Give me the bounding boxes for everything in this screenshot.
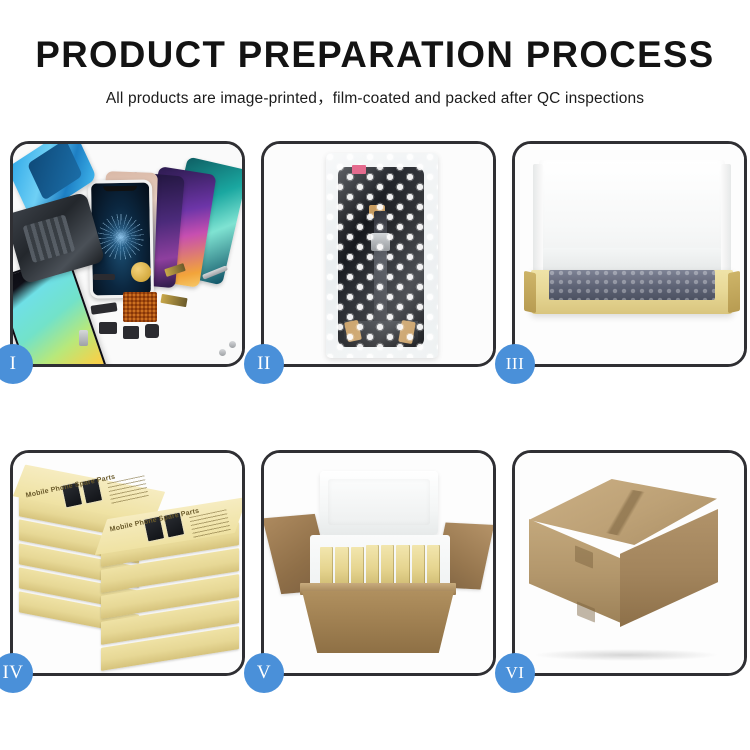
step-badge-4: IV [0, 653, 33, 693]
step-image-1 [13, 144, 242, 364]
part-chip-grid [123, 292, 157, 322]
step-image-3 [515, 144, 744, 364]
retail-boxes-row [320, 545, 440, 587]
page-title: PRODUCT PREPARATION PROCESS [4, 0, 747, 75]
part-battery-connector [93, 274, 115, 280]
retail-box [351, 547, 364, 587]
part-sim-tray [79, 330, 88, 346]
box-stack: Mobile Phone Spare Parts Mobile Phone Sp… [17, 471, 242, 666]
part-speaker [123, 326, 139, 339]
step-image-6 [515, 453, 744, 673]
carton-shadow [533, 649, 719, 661]
step-panel-6: VI [512, 450, 747, 676]
step-badge-6: VI [495, 653, 535, 693]
retail-box [412, 545, 425, 587]
step-badge-2: II [244, 344, 284, 384]
step-image-2 [264, 144, 493, 364]
part-camera-module [99, 322, 117, 334]
foam-lid-open [320, 471, 438, 535]
retail-box [335, 547, 348, 587]
qc-sticker [352, 165, 366, 174]
retail-box [396, 545, 409, 587]
part-screw-a [229, 341, 236, 348]
step-badge-1: I [0, 344, 33, 384]
retail-box [320, 547, 333, 587]
step-panel-1: I [10, 141, 245, 367]
bubble-wrap-pouch [326, 153, 438, 358]
step-panel-4: Mobile Phone Spare Parts Mobile Phone Sp… [10, 450, 245, 676]
header: PRODUCT PREPARATION PROCESS All products… [0, 0, 750, 108]
carton-body [302, 591, 454, 653]
infographic-page: PRODUCT PREPARATION PROCESS All products… [0, 0, 750, 750]
step-image-4: Mobile Phone Spare Parts Mobile Phone Sp… [13, 453, 242, 673]
step-badge-3: III [495, 344, 535, 384]
retail-box [381, 545, 394, 587]
part-screw-b [219, 349, 226, 356]
plastic-sheen [326, 153, 438, 358]
process-step-grid: I II [10, 141, 747, 676]
page-subtitle: All products are image-printed，film-coat… [0, 75, 750, 108]
retail-box [366, 545, 379, 587]
step-panel-2: II [261, 141, 496, 367]
step-badge-5: V [244, 653, 284, 693]
step-image-5 [264, 453, 493, 673]
part-taptic-engine [145, 324, 159, 338]
step-panel-5: V [261, 450, 496, 676]
retail-box [427, 545, 440, 587]
step-panel-3: III [512, 141, 747, 367]
part-gold-coil [131, 262, 151, 282]
bubble-wrapped-contents [549, 270, 715, 300]
